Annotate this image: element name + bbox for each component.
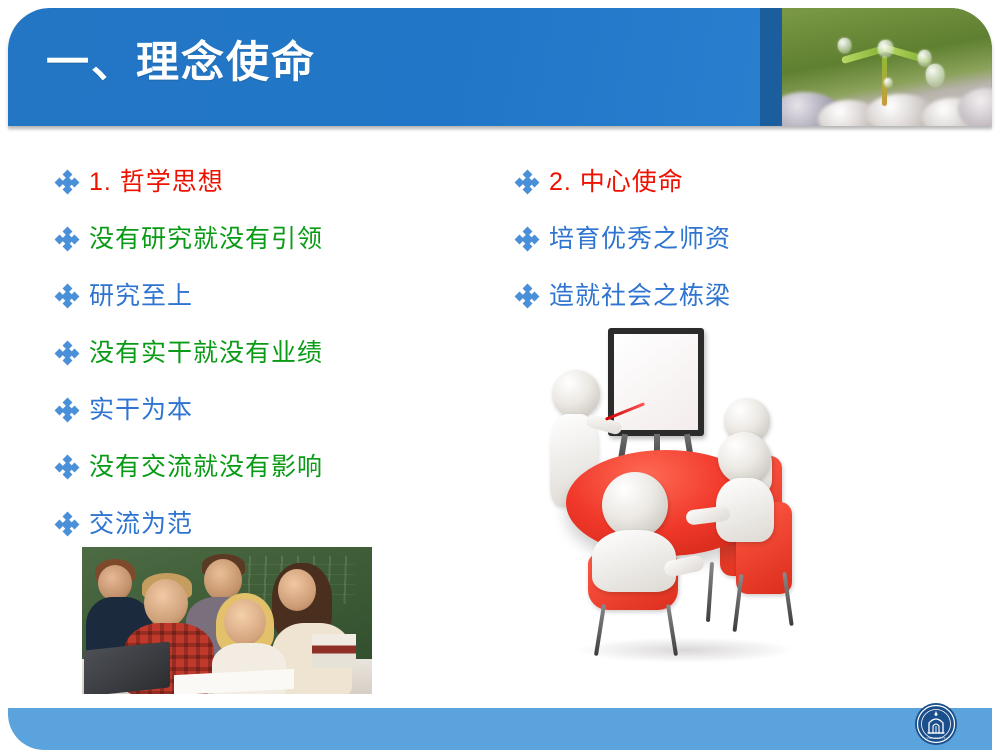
diamond-bullet-icon (56, 399, 78, 421)
list-item: 交流为范 (56, 507, 193, 541)
diamond-bullet-icon (56, 342, 78, 364)
dew-drop (926, 64, 944, 86)
diamond-bullet-icon (516, 285, 538, 307)
diamond-bullet-icon (516, 171, 538, 193)
figure-head (718, 432, 770, 484)
diamond-bullet-icon (516, 228, 538, 250)
diamond-bullet-icon (56, 171, 78, 193)
left-bullet-column: 1. 哲学思想 没有研究就没有引领 研究至上 没有实干就没有业绩 实干为本 (56, 165, 456, 545)
diamond-bullet-icon (56, 513, 78, 535)
list-item-label: 2. 中心使命 (549, 170, 684, 195)
figure-head (552, 370, 600, 418)
list-item: 实干为本 (56, 393, 193, 427)
seal-icon: UNIVERSITY (914, 702, 958, 746)
slide-canvas: 一、理念使命 1. 哲学思想 没有研究就没有引领 (0, 0, 1000, 750)
ground-shadow (576, 637, 796, 663)
header-sprout-photo (782, 8, 992, 126)
list-item: 没有交流就没有影响 (56, 450, 323, 484)
list-item-label: 研究至上 (89, 284, 193, 309)
dew-drop (838, 38, 851, 53)
whiteboard (608, 328, 704, 436)
list-item: 2. 中心使命 (516, 165, 684, 199)
list-item: 造就社会之栋梁 (516, 279, 731, 313)
list-item: 研究至上 (56, 279, 193, 313)
whiteboard-surface (614, 334, 698, 430)
university-seal-logo: UNIVERSITY (914, 702, 958, 746)
list-item-label: 实干为本 (89, 398, 193, 423)
dew-drop (918, 50, 931, 66)
list-item: 没有研究就没有引领 (56, 222, 323, 256)
list-item: 1. 哲学思想 (56, 165, 224, 199)
footer-bar (8, 708, 992, 750)
figure-head (602, 472, 668, 538)
page-title: 一、理念使命 (46, 42, 316, 85)
figure-torso (592, 530, 676, 592)
list-item-label: 交流为范 (89, 512, 193, 537)
laptop-icon (84, 641, 170, 694)
list-item-label: 培育优秀之师资 (549, 227, 731, 252)
right-bullet-column: 2. 中心使命 培育优秀之师资 造就社会之栋梁 (516, 165, 916, 345)
header-accent-strip (760, 8, 782, 126)
diamond-bullet-icon (56, 456, 78, 478)
list-item-label: 1. 哲学思想 (89, 170, 224, 195)
students-classroom-photo (82, 547, 372, 694)
list-item-label: 没有研究就没有引领 (89, 227, 323, 252)
list-item-label: 没有交流就没有影响 (89, 455, 323, 480)
list-item: 培育优秀之师资 (516, 222, 731, 256)
meeting-illustration (540, 322, 840, 667)
books-stack (312, 634, 356, 668)
chair-leg (706, 562, 714, 622)
list-item: 没有实干就没有业绩 (56, 336, 323, 370)
diamond-bullet-icon (56, 228, 78, 250)
list-item-label: 造就社会之栋梁 (549, 284, 731, 309)
list-item-label: 没有实干就没有业绩 (89, 341, 323, 366)
diamond-bullet-icon (56, 285, 78, 307)
title-band-shadow (8, 126, 992, 131)
svg-text:UNIVERSITY: UNIVERSITY (926, 736, 946, 740)
chair-leg (732, 574, 743, 632)
dew-drop (884, 78, 892, 87)
dew-drop (878, 40, 893, 57)
